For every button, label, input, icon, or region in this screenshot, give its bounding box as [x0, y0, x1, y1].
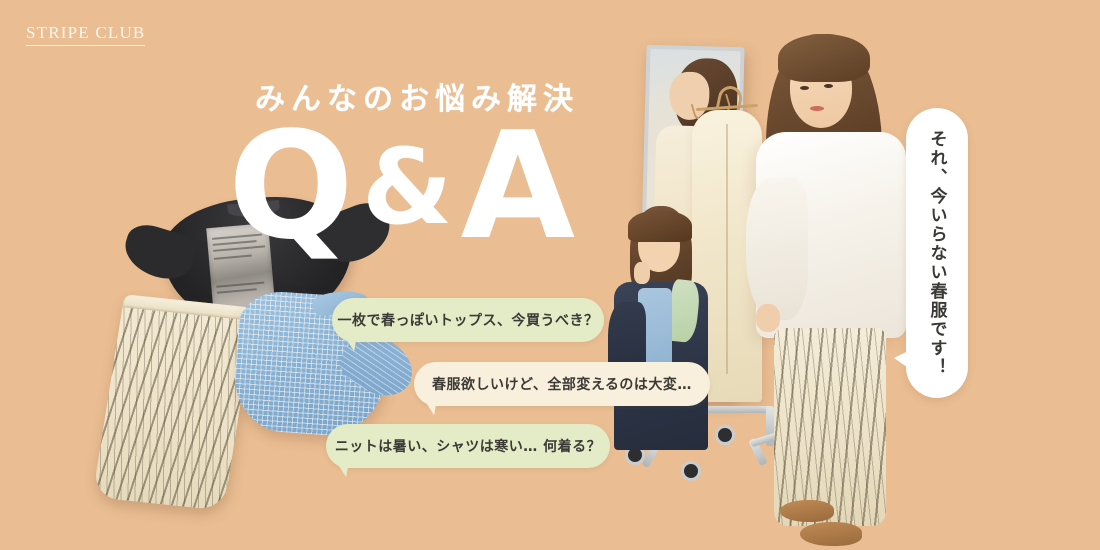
page-title: Q&A: [228, 112, 579, 260]
bubble-tail: [328, 455, 349, 478]
model1-sleeve: [746, 178, 808, 320]
model1-bangs: [778, 34, 870, 82]
caster-wheel: [628, 448, 642, 462]
question-bubble-3-text: ニットは暑い、シャツは寒い… 何着る？: [335, 436, 601, 456]
patterned-skirt-photo: [92, 294, 255, 511]
model1-eye: [800, 86, 809, 90]
main-model-photo: [748, 28, 918, 538]
answer-bubble-text: それ、今いらない春服です！: [925, 130, 950, 377]
question-bubble-2-text: 春服欲しいけど、全部変えるのは大変…: [432, 374, 692, 394]
title-letter-q: Q: [228, 100, 358, 272]
bubble-tail: [416, 393, 437, 416]
model1-shoe-left: [780, 500, 834, 522]
bubble-tail: [894, 348, 914, 372]
model1-patterned-pants: [774, 328, 886, 526]
model1-shoe-right: [800, 522, 862, 546]
caster-wheel: [684, 464, 698, 478]
title-letter-a: A: [461, 100, 580, 272]
secondary-model-photo: [604, 206, 714, 446]
bubble-tail: [336, 329, 357, 352]
question-bubble-3[interactable]: ニットは暑い、シャツは寒い… 何着る？: [326, 424, 610, 468]
model1-hand: [756, 304, 780, 332]
answer-bubble[interactable]: それ、今いらない春服です！: [906, 108, 968, 398]
stripe-club-logo[interactable]: STRIPE CLUB: [26, 24, 145, 46]
question-bubble-1[interactable]: 一枚で春っぽいトップス、今買うべき？: [332, 298, 604, 342]
model2-hand: [634, 262, 650, 284]
question-bubble-1-text: 一枚で春っぽいトップス、今買うべき？: [338, 310, 599, 330]
title-ampersand: &: [362, 126, 457, 248]
model1-lips: [810, 106, 824, 111]
question-bubble-2[interactable]: 春服欲しいけど、全部変えるのは大変…: [414, 362, 710, 406]
caster-wheel: [718, 428, 732, 442]
model1-eye: [824, 84, 833, 88]
model2-bangs: [628, 210, 692, 242]
qa-campaign-banner: STRIPE CLUB: [0, 0, 1100, 550]
